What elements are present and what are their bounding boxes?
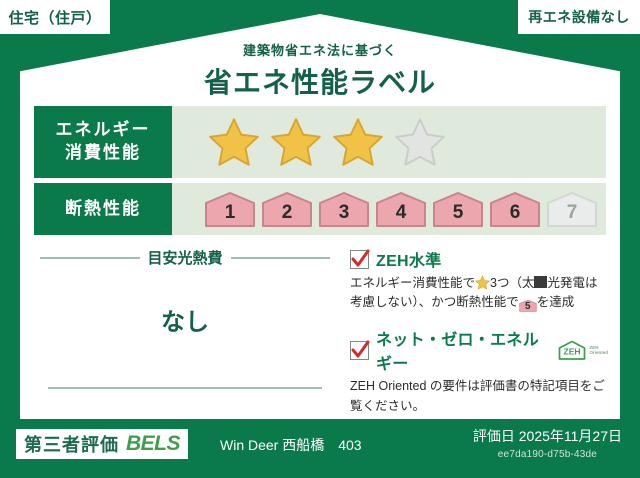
utility-cost-heading: 目安光熱費	[148, 247, 223, 268]
zeh-net-zero-description: ZEH Oriented の要件は評価書の特記項目をご覧ください。	[350, 377, 608, 416]
zeh-logo: ZEH ZEH Oriented	[557, 339, 608, 361]
star-rating	[172, 116, 446, 168]
insulation-grade-7: 7	[546, 190, 598, 228]
check-icon	[350, 339, 370, 361]
heading-rule-right	[231, 257, 331, 259]
energy-performance-label: 住宅（住戸） 再エネ設備なし 建築物省エネ法に基づく 省エネ性能ラベル エネルギ…	[0, 0, 640, 478]
insulation-grade-5: 5	[432, 190, 484, 228]
insulation-grade-6: 6	[489, 190, 541, 228]
energy-performance-row: エネルギー 消費性能	[34, 106, 606, 178]
inline-star-icon	[475, 275, 490, 290]
zeh-net-zero-checkbox	[350, 341, 369, 360]
zeh-logo-subtext: ZEH Oriented	[589, 345, 608, 356]
zeh-section: ZEH水準 エネルギー消費性能で3つ（太光発電は考慮しない）、かつ断熱性能で5を…	[350, 247, 608, 428]
star-filled-icon	[270, 116, 322, 168]
star-filled-icon	[332, 116, 384, 168]
bels-english-label: BELS	[126, 432, 180, 456]
insulation-performance-label-box: 断熱性能	[34, 183, 172, 235]
insulation-grade-value: 3	[339, 202, 350, 224]
utility-cost-section: 目安光熱費 なし	[40, 247, 330, 407]
insulation-grade-scale: 1234567	[172, 190, 598, 228]
label-footer: 第三者評価 BELS Win Deer 西船橋 403 評価日 2025年11月…	[0, 420, 640, 478]
insulation-grade-value: 2	[282, 202, 293, 224]
insulation-grade-2: 2	[261, 190, 313, 228]
title-block: 建築物省エネ法に基づく 省エネ性能ラベル	[0, 40, 640, 101]
title-subtitle: 建築物省エネ法に基づく	[0, 40, 640, 59]
star-empty-icon	[394, 116, 446, 168]
inline-grade-badge: 5	[519, 299, 537, 314]
page-title: 省エネ性能ラベル	[0, 61, 640, 101]
bels-badge: 第三者評価 BELS	[16, 429, 188, 459]
utility-cost-heading-row: 目安光熱費	[40, 247, 330, 268]
energy-performance-label-box: エネルギー 消費性能	[34, 106, 172, 178]
utility-cost-bottom-rule	[48, 387, 322, 389]
insulation-grade-1: 1	[204, 190, 256, 228]
check-icon	[350, 248, 370, 270]
svg-text:ZEH: ZEH	[564, 347, 581, 357]
zeh-logo-sub-line2: Oriented	[589, 350, 608, 355]
zeh-net-zero-block: ネット・ゼロ・エネルギー ZEH ZEH Oriented ZEH Orient…	[350, 326, 608, 416]
zeh-standard-block: ZEH水準 エネルギー消費性能で3つ（太光発電は考慮しない）、かつ断熱性能で5を…	[350, 247, 608, 314]
zeh-logo-sub-line1: ZEH	[589, 345, 598, 350]
zeh-standard-heading: ZEH水準	[350, 247, 608, 271]
redacted-character	[534, 276, 547, 288]
inline-grade-value: 5	[525, 301, 531, 312]
insulation-label: 断熱性能	[65, 198, 141, 221]
zeh-desc-part4: を達成	[537, 295, 575, 309]
renewable-equipment-tag: 再エネ設備なし	[518, 0, 640, 34]
evaluation-date: 評価日 2025年11月27日	[473, 426, 622, 446]
evaluation-info: 評価日 2025年11月27日 ee7da190-d75b-43de	[473, 426, 622, 460]
zeh-net-zero-heading: ネット・ゼロ・エネルギー ZEH ZEH Oriented	[350, 326, 608, 374]
zeh-standard-description: エネルギー消費性能で3つ（太光発電は考慮しない）、かつ断熱性能で5を達成	[350, 274, 608, 314]
insulation-grade-value: 7	[567, 202, 578, 224]
star-filled-icon	[208, 116, 260, 168]
insulation-rating-body: 1234567	[172, 190, 606, 228]
energy-label-line1: エネルギー	[56, 119, 151, 142]
insulation-grade-value: 5	[453, 202, 464, 224]
zeh-desc-part2: 3つ（太	[490, 276, 534, 290]
utility-cost-value: なし	[40, 302, 330, 337]
insulation-grade-3: 3	[318, 190, 370, 228]
insulation-performance-row: 断熱性能 1234567	[34, 183, 606, 235]
heading-rule-left	[40, 257, 140, 259]
zeh-net-zero-title: ネット・ゼロ・エネルギー	[376, 326, 548, 374]
bels-japanese-label: 第三者評価	[24, 431, 119, 457]
building-name: Win Deer 西船橋 403	[220, 435, 362, 455]
energy-label-line2: 消費性能	[65, 142, 141, 165]
zeh-house-logo-icon: ZEH	[557, 339, 587, 361]
zeh-standard-checkbox	[350, 250, 369, 269]
insulation-grade-value: 4	[396, 202, 407, 224]
insulation-grade-4: 4	[375, 190, 427, 228]
evaluation-id: ee7da190-d75b-43de	[473, 449, 622, 460]
insulation-grade-value: 6	[510, 202, 521, 224]
energy-rating-body	[172, 116, 606, 168]
insulation-grade-value: 1	[225, 202, 236, 224]
zeh-standard-title: ZEH水準	[376, 247, 442, 271]
zeh-desc-part1: エネルギー消費性能で	[350, 276, 475, 290]
housing-type-tag: 住宅（住戸）	[0, 0, 110, 34]
label-card: エネルギー 消費性能 断熱性能 1234567 目安光熱費 なし	[20, 97, 620, 419]
